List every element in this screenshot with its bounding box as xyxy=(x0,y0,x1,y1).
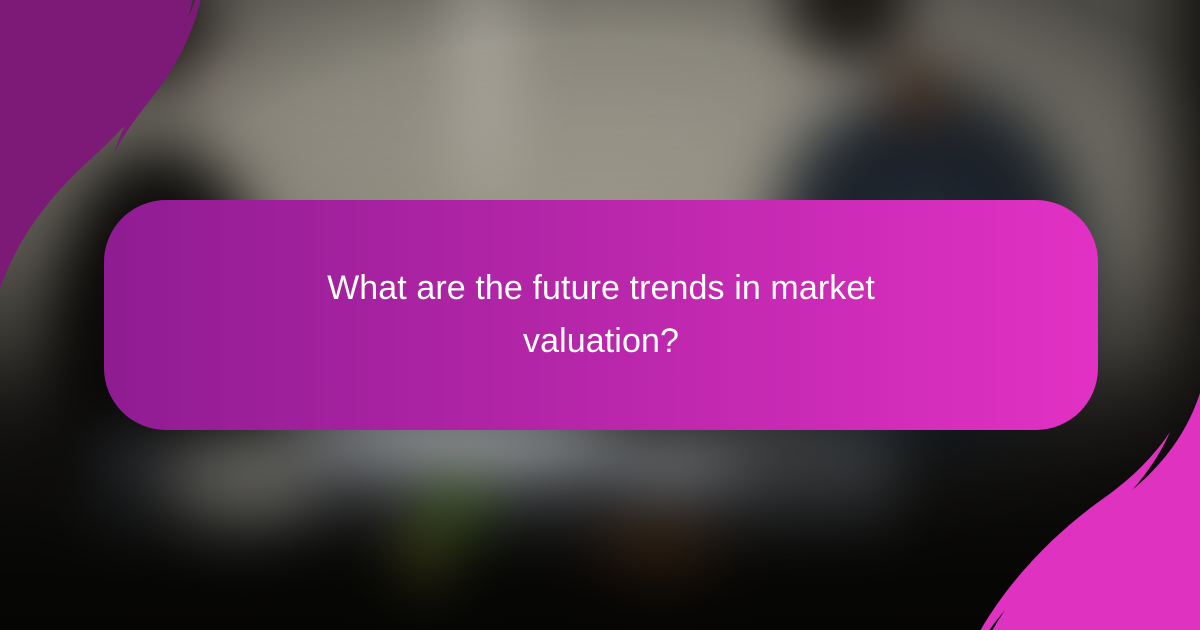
question-card[interactable]: What are the future trends in market val… xyxy=(104,200,1098,430)
question-text: What are the future trends in market val… xyxy=(254,262,948,367)
social-card-canvas: What are the future trends in market val… xyxy=(0,0,1200,630)
